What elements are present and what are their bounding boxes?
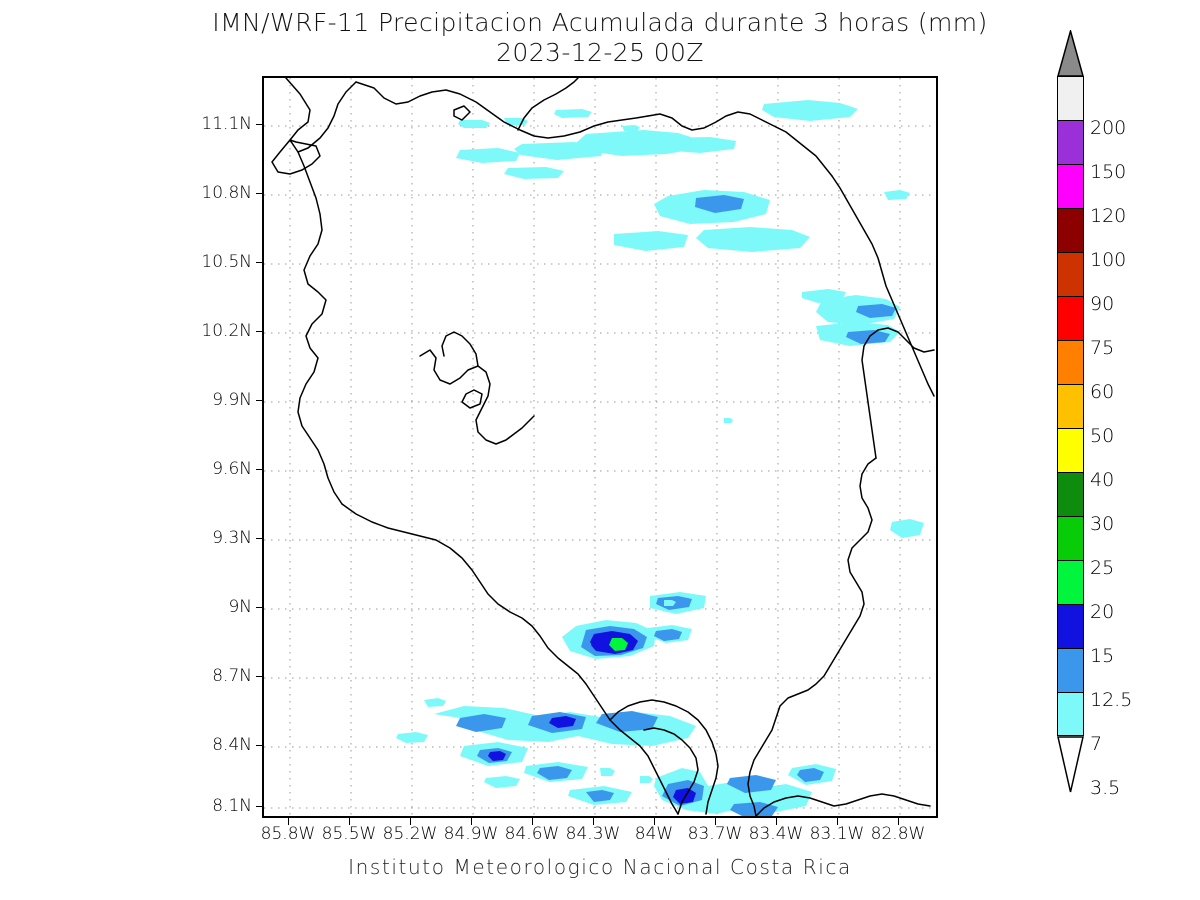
colorbar-label: 120 <box>1090 205 1126 227</box>
colorbar-label: 90 <box>1090 293 1114 315</box>
colorbar-label: 25 <box>1090 557 1114 579</box>
y-tick-label: 9.6N <box>0 459 252 479</box>
colorbar-segment-12p5 <box>1057 648 1084 692</box>
y-tick-label: 10.2N <box>0 321 252 341</box>
colorbar-over-arrow-icon <box>1057 30 1084 78</box>
x-tick-label: 83.1W <box>810 824 865 844</box>
colorbar-label: 30 <box>1090 513 1114 535</box>
colorbar-label: 200 <box>1090 117 1126 139</box>
colorbar-segment-90 <box>1057 252 1084 296</box>
precip-feature-san-juan-river-cell <box>614 190 810 252</box>
precipitation-map-page: IMN/WRF-11 Precipitacion Acumulada duran… <box>0 0 1200 900</box>
precip-feature-north-caribbean-band <box>456 100 858 179</box>
colorbar-label: 75 <box>1090 337 1114 359</box>
institute-footer: Instituto Meteorologico Nacional Costa R… <box>0 855 1200 879</box>
x-tick-label: 84.3W <box>566 824 621 844</box>
x-tick-mark <box>837 818 838 825</box>
y-tick-label: 9.3N <box>0 528 252 548</box>
map-canvas <box>264 78 936 816</box>
y-tick-label: 10.8N <box>0 183 252 203</box>
colorbar-label: 40 <box>1090 469 1114 491</box>
chart-title-block: IMN/WRF-11 Precipitacion Acumulada duran… <box>0 8 1200 68</box>
colorbar-segment-7 <box>1057 692 1084 736</box>
precip-feature-osa-offshore-cell <box>654 764 836 816</box>
colorbar-segment-120 <box>1057 164 1084 208</box>
colorbar-under-arrow-icon <box>1057 736 1084 794</box>
colorbar-segment-25 <box>1057 516 1084 560</box>
x-tick-label: 84.6W <box>505 824 560 844</box>
colorbar-label: 3.5 <box>1090 777 1120 799</box>
y-tick-label: 9.9N <box>0 390 252 410</box>
y-tick-label: 10.5N <box>0 252 252 272</box>
x-tick-label: 84W <box>635 824 673 844</box>
y-tick-label: 9N <box>0 597 252 617</box>
x-tick-mark <box>532 818 533 825</box>
x-tick-label: 83.7W <box>688 824 743 844</box>
colorbar-segment-150 <box>1057 120 1084 164</box>
x-tick-label: 82.8W <box>871 824 926 844</box>
chart-title-line1: IMN/WRF-11 Precipitacion Acumulada duran… <box>0 8 1200 38</box>
y-tick-label: 8.7N <box>0 666 252 686</box>
colorbar-segment-30 <box>1057 472 1084 516</box>
y-tick-label: 8.1N <box>0 796 252 816</box>
x-tick-mark <box>715 818 716 825</box>
precip-feature-south-pacific-band <box>396 698 696 805</box>
colorbar-label: 60 <box>1090 381 1114 403</box>
colorbar-segment-60 <box>1057 340 1084 384</box>
colorbar-segment-200 <box>1057 76 1084 120</box>
colorbar-segment-40 <box>1057 428 1084 472</box>
x-tick-label: 83.4W <box>749 824 804 844</box>
x-tick-label: 85.8W <box>261 824 316 844</box>
map-plot-area <box>262 76 938 818</box>
colorbar <box>1057 76 1084 818</box>
x-tick-mark <box>288 818 289 825</box>
x-tick-label: 85.5W <box>322 824 377 844</box>
x-tick-mark <box>593 818 594 825</box>
x-tick-label: 84.9W <box>444 824 499 844</box>
colorbar-segment-75 <box>1057 296 1084 340</box>
colorbar-segment-100 <box>1057 208 1084 252</box>
precip-shading-layer <box>396 100 924 816</box>
colorbar-segment-50 <box>1057 384 1084 428</box>
x-tick-mark <box>654 818 655 825</box>
colorbar-label: 7 <box>1090 733 1102 755</box>
colorbar-label: 100 <box>1090 249 1126 271</box>
precip-feature-central-pacific-cell <box>562 592 706 659</box>
x-tick-mark <box>776 818 777 825</box>
chart-title-line2: 2023-12-25 00Z <box>0 38 1200 68</box>
x-tick-label: 85.2W <box>383 824 438 844</box>
colorbar-segment-15 <box>1057 604 1084 648</box>
y-tick-label: 11.1N <box>0 114 252 134</box>
map-plot-inner <box>264 78 936 816</box>
coastline-layer <box>272 78 934 816</box>
colorbar-label: 20 <box>1090 601 1114 623</box>
precip-feature-limon-offshore-cell <box>802 289 900 346</box>
colorbar-label: 50 <box>1090 425 1114 447</box>
colorbar-label: 12.5 <box>1090 689 1132 711</box>
colorbar-segment-20 <box>1057 560 1084 604</box>
colorbar-label: 15 <box>1090 645 1114 667</box>
colorbar-label: 150 <box>1090 161 1126 183</box>
x-tick-mark <box>349 818 350 825</box>
x-tick-mark <box>410 818 411 825</box>
x-tick-mark <box>471 818 472 825</box>
y-tick-label: 8.4N <box>0 735 252 755</box>
x-tick-mark <box>898 818 899 825</box>
